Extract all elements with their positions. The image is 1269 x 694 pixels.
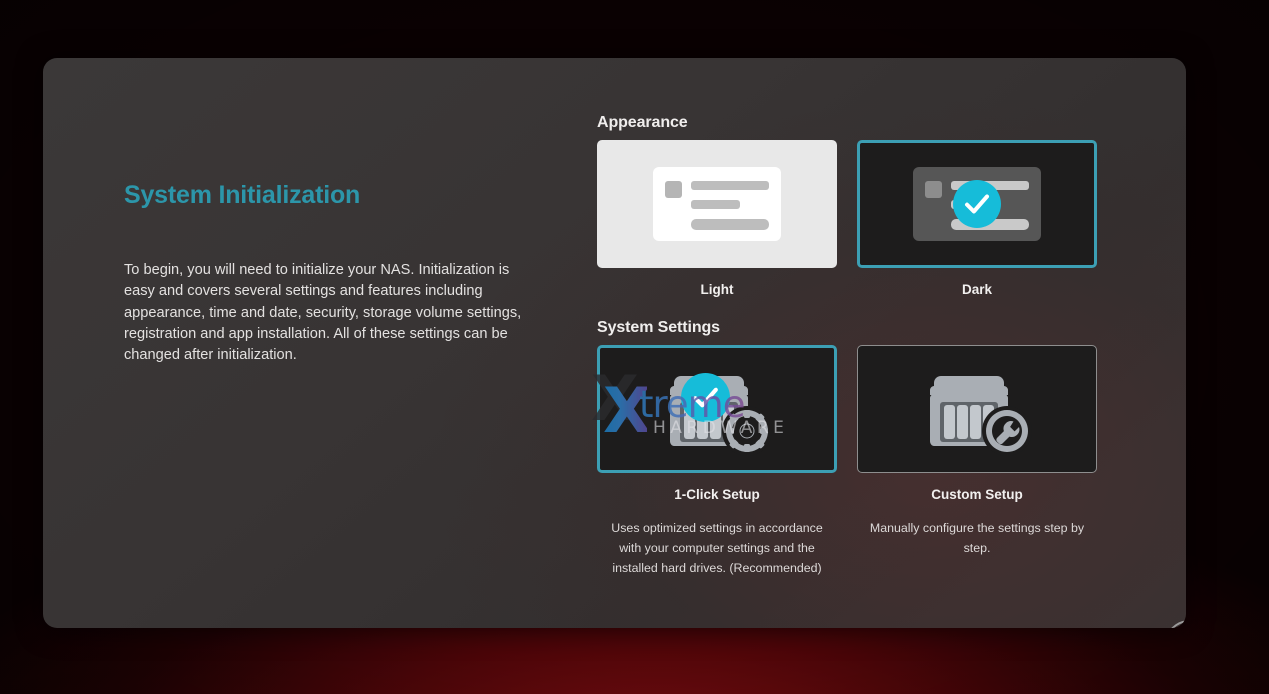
preview-bar xyxy=(691,200,740,209)
nas-gear-icon xyxy=(654,361,780,457)
system-label-one-click: 1-Click Setup xyxy=(597,487,837,502)
nas-wrench-icon xyxy=(914,361,1040,457)
dark-theme-preview xyxy=(913,167,1041,241)
intro-column: System Initialization To begin, you will… xyxy=(124,180,544,366)
one-click-setup-card[interactable] xyxy=(597,345,837,473)
custom-setup-card[interactable] xyxy=(857,345,1097,473)
appearance-option-light[interactable]: Light xyxy=(597,140,837,297)
appearance-option-dark[interactable]: Dark xyxy=(857,140,1097,297)
preview-avatar-block xyxy=(665,181,682,198)
system-label-custom: Custom Setup xyxy=(857,487,1097,502)
selected-check-icon xyxy=(953,180,1001,228)
system-settings-heading: System Settings xyxy=(597,319,1117,337)
preview-bar xyxy=(691,219,769,230)
appearance-label-light: Light xyxy=(597,282,837,297)
preview-avatar-block xyxy=(925,181,942,198)
intro-description: To begin, you will need to initialize yo… xyxy=(124,260,524,366)
light-theme-preview xyxy=(653,167,781,241)
appearance-options: Light Dark xyxy=(597,140,1117,297)
system-desc-one-click: Uses optimized settings in accordance wi… xyxy=(597,518,837,578)
next-button[interactable] xyxy=(1165,620,1186,628)
appearance-label-dark: Dark xyxy=(857,282,1097,297)
preview-bar xyxy=(691,181,769,190)
system-option-one-click[interactable]: 1-Click Setup Uses optimized settings in… xyxy=(597,345,837,578)
page-title: System Initialization xyxy=(124,180,544,210)
system-desc-custom: Manually configure the settings step by … xyxy=(857,518,1097,558)
system-option-custom[interactable]: Custom Setup Manually configure the sett… xyxy=(857,345,1097,578)
settings-column: Appearance Light xyxy=(597,114,1117,578)
appearance-card-light[interactable] xyxy=(597,140,837,268)
system-settings-options: 1-Click Setup Uses optimized settings in… xyxy=(597,345,1117,578)
selected-check-icon xyxy=(681,373,730,422)
appearance-card-dark[interactable] xyxy=(857,140,1097,268)
initialization-panel: System Initialization To begin, you will… xyxy=(43,58,1186,628)
appearance-heading: Appearance xyxy=(597,114,1117,132)
